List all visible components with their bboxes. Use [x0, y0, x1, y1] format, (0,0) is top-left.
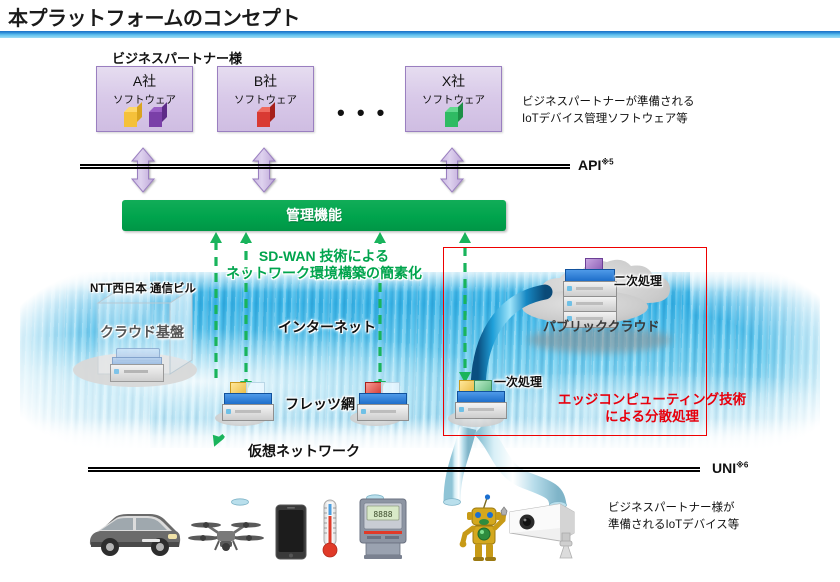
title-divider — [0, 31, 840, 38]
uni-label-group: UNI※6 — [712, 460, 748, 476]
software-cube-icon — [445, 107, 462, 127]
iot-device-note: ビジネスパートナー様が 準備されるIoTデバイス等 — [608, 500, 739, 535]
partner-box-x[interactable]: X社 ソフトウェア — [405, 66, 502, 132]
uni-label: UNI — [712, 460, 736, 476]
svg-text:8888: 8888 — [373, 510, 392, 519]
thermometer-icon — [318, 498, 342, 560]
security-camera-icon — [502, 500, 584, 560]
slide-canvas: 本プラットフォームのコンセプト — [0, 0, 840, 582]
software-cube-icon — [124, 107, 141, 127]
sdwan-line1: SD-WAN 技術による — [206, 248, 442, 265]
api-bidirectional-arrows — [132, 148, 463, 192]
sdwan-arrowheads-up — [210, 232, 471, 243]
edge-computing-callout: エッジコンピューティング技術 による分散処理 — [552, 392, 752, 426]
virtual-network-label: 仮想ネットワーク — [248, 441, 360, 461]
secondary-processing-label: 二次処理 — [614, 272, 662, 289]
primary-processing-label: 一次処理 — [494, 373, 542, 390]
edge-callout-line1: エッジコンピューティング技術 — [552, 392, 752, 409]
edge-callout-line2: による分散処理 — [552, 409, 752, 426]
smartphone-icon — [274, 504, 308, 560]
flets-router-2-icon[interactable] — [357, 382, 413, 420]
management-function-label: 管理機能 — [122, 200, 506, 230]
partner-box-a[interactable]: A社 ソフトウェア — [96, 66, 193, 132]
partner-cubes-x — [406, 107, 501, 129]
software-cube-icon — [257, 107, 274, 127]
iot-device-note-line1: ビジネスパートナー様が — [608, 500, 739, 517]
api-footnote: ※5 — [601, 157, 613, 166]
partner-box-b[interactable]: B社 ソフトウェア — [217, 66, 314, 132]
partner-note-line1: ビジネスパートナーが準備される — [522, 94, 695, 111]
partner-ellipsis: • • • — [337, 100, 387, 126]
partners-group-label: ビジネスパートナー様 — [112, 48, 242, 67]
partner-note-line2: IoTデバイス管理ソフトウェア等 — [522, 111, 695, 128]
partner-name-a: A社 — [97, 71, 192, 91]
api-label: API — [578, 157, 601, 173]
page-title: 本プラットフォームのコンセプト — [8, 2, 300, 31]
iot-device-note-line2: 準備されるIoTデバイス等 — [608, 517, 739, 534]
partner-name-b: B社 — [218, 71, 313, 91]
uni-footnote: ※6 — [736, 460, 748, 469]
management-function-bar[interactable]: 管理機能 — [122, 200, 506, 231]
api-boundary-line — [80, 164, 570, 169]
partner-software-label-b: ソフトウェア — [218, 92, 313, 107]
api-label-group: API※5 — [578, 157, 614, 173]
internet-label: インターネット — [278, 317, 376, 337]
flets-network-label: フレッツ網 — [285, 394, 355, 414]
drone-icon — [186, 512, 266, 557]
software-cube-icon — [149, 107, 166, 127]
partner-software-label-a: ソフトウェア — [97, 92, 192, 107]
partner-cubes-b — [218, 107, 313, 129]
sdwan-callout: SD-WAN 技術による ネットワーク環境構築の簡素化 — [206, 248, 442, 281]
uni-boundary-line — [88, 467, 700, 472]
car-icon — [84, 506, 184, 556]
partner-name-x: X社 — [406, 71, 501, 91]
partner-note: ビジネスパートナーが準備される IoTデバイス管理ソフトウェア等 — [522, 94, 695, 127]
partner-cubes-a — [97, 107, 192, 129]
cloud-base-label: クラウド基盤 — [100, 322, 184, 342]
flets-router-1-icon[interactable] — [222, 382, 278, 420]
public-cloud-label: パブリッククラウド — [543, 316, 659, 335]
sdwan-line2: ネットワーク環境構築の簡素化 — [206, 265, 442, 282]
ntt-building-label: NTT西日本 通信ビル — [90, 280, 196, 296]
smart-meter-icon: 8888 — [358, 498, 408, 560]
partner-software-label-x: ソフトウェア — [406, 92, 501, 107]
